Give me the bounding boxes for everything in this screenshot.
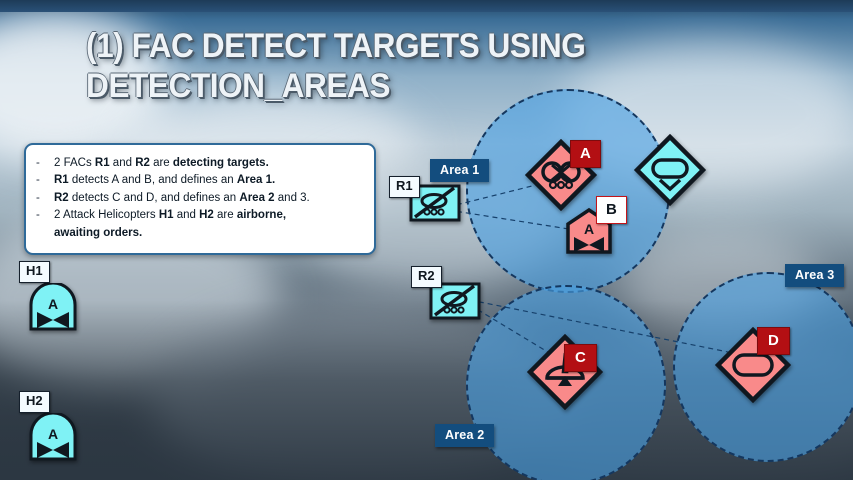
- svg-text:A: A: [48, 296, 58, 312]
- armor-withdraw-icon: [634, 134, 706, 206]
- svg-text:A: A: [48, 426, 58, 442]
- unit-h2[interactable]: A: [28, 413, 78, 461]
- unit-label-a[interactable]: A: [570, 140, 601, 168]
- bullet-dash: -: [36, 190, 54, 207]
- list-item: - R1 detects A and B, and defines an Are…: [36, 172, 362, 189]
- bullet-text-2: R2 detects C and D, and defines an Area …: [54, 190, 362, 207]
- slide-canvas: (1) FAC DETECT TARGETS USING DETECTION_A…: [0, 0, 853, 480]
- unit-label-h1[interactable]: H1: [19, 261, 50, 283]
- unit-label-h2[interactable]: H2: [19, 391, 50, 413]
- bullet-text-3: 2 Attack Helicopters H1 and H2 are airbo…: [54, 207, 362, 242]
- bullet-text-0: 2 FACs R1 and R2 are detecting targets.: [54, 155, 362, 172]
- unit-friendly-armor[interactable]: [634, 134, 706, 206]
- list-item: - R2 detects C and D, and defines an Are…: [36, 190, 362, 207]
- bullet-dash: -: [36, 172, 54, 189]
- title-line-1: (1) FAC DETECT TARGETS USING: [86, 26, 663, 66]
- description-callout: - 2 FACs R1 and R2 are detecting targets…: [24, 143, 376, 255]
- unit-label-r2[interactable]: R2: [411, 266, 442, 288]
- list-item: - 2 Attack Helicopters H1 and H2 are air…: [36, 207, 362, 242]
- area-tag-3[interactable]: Area 3: [785, 264, 844, 287]
- unit-label-c[interactable]: C: [564, 344, 597, 372]
- list-item: - 2 FACs R1 and R2 are detecting targets…: [36, 155, 362, 172]
- unit-label-d[interactable]: D: [757, 327, 790, 355]
- rotary-wing-attack-icon: A: [28, 413, 78, 461]
- unit-label-b[interactable]: B: [596, 196, 627, 224]
- bullet-text-1: R1 detects A and B, and defines an Area …: [54, 172, 362, 189]
- page-title: (1) FAC DETECT TARGETS USING DETECTION_A…: [86, 26, 663, 106]
- title-line-2: DETECTION_AREAS: [86, 66, 663, 106]
- unit-h1[interactable]: A: [28, 283, 78, 331]
- rotary-wing-attack-icon: A: [28, 283, 78, 331]
- area-tag-2[interactable]: Area 2: [435, 424, 494, 447]
- top-band: [0, 0, 853, 12]
- bullet-dash: -: [36, 207, 54, 242]
- svg-text:A: A: [584, 221, 594, 237]
- bullet-dash: -: [36, 155, 54, 172]
- area-tag-1[interactable]: Area 1: [430, 159, 489, 182]
- unit-label-r1[interactable]: R1: [389, 176, 420, 198]
